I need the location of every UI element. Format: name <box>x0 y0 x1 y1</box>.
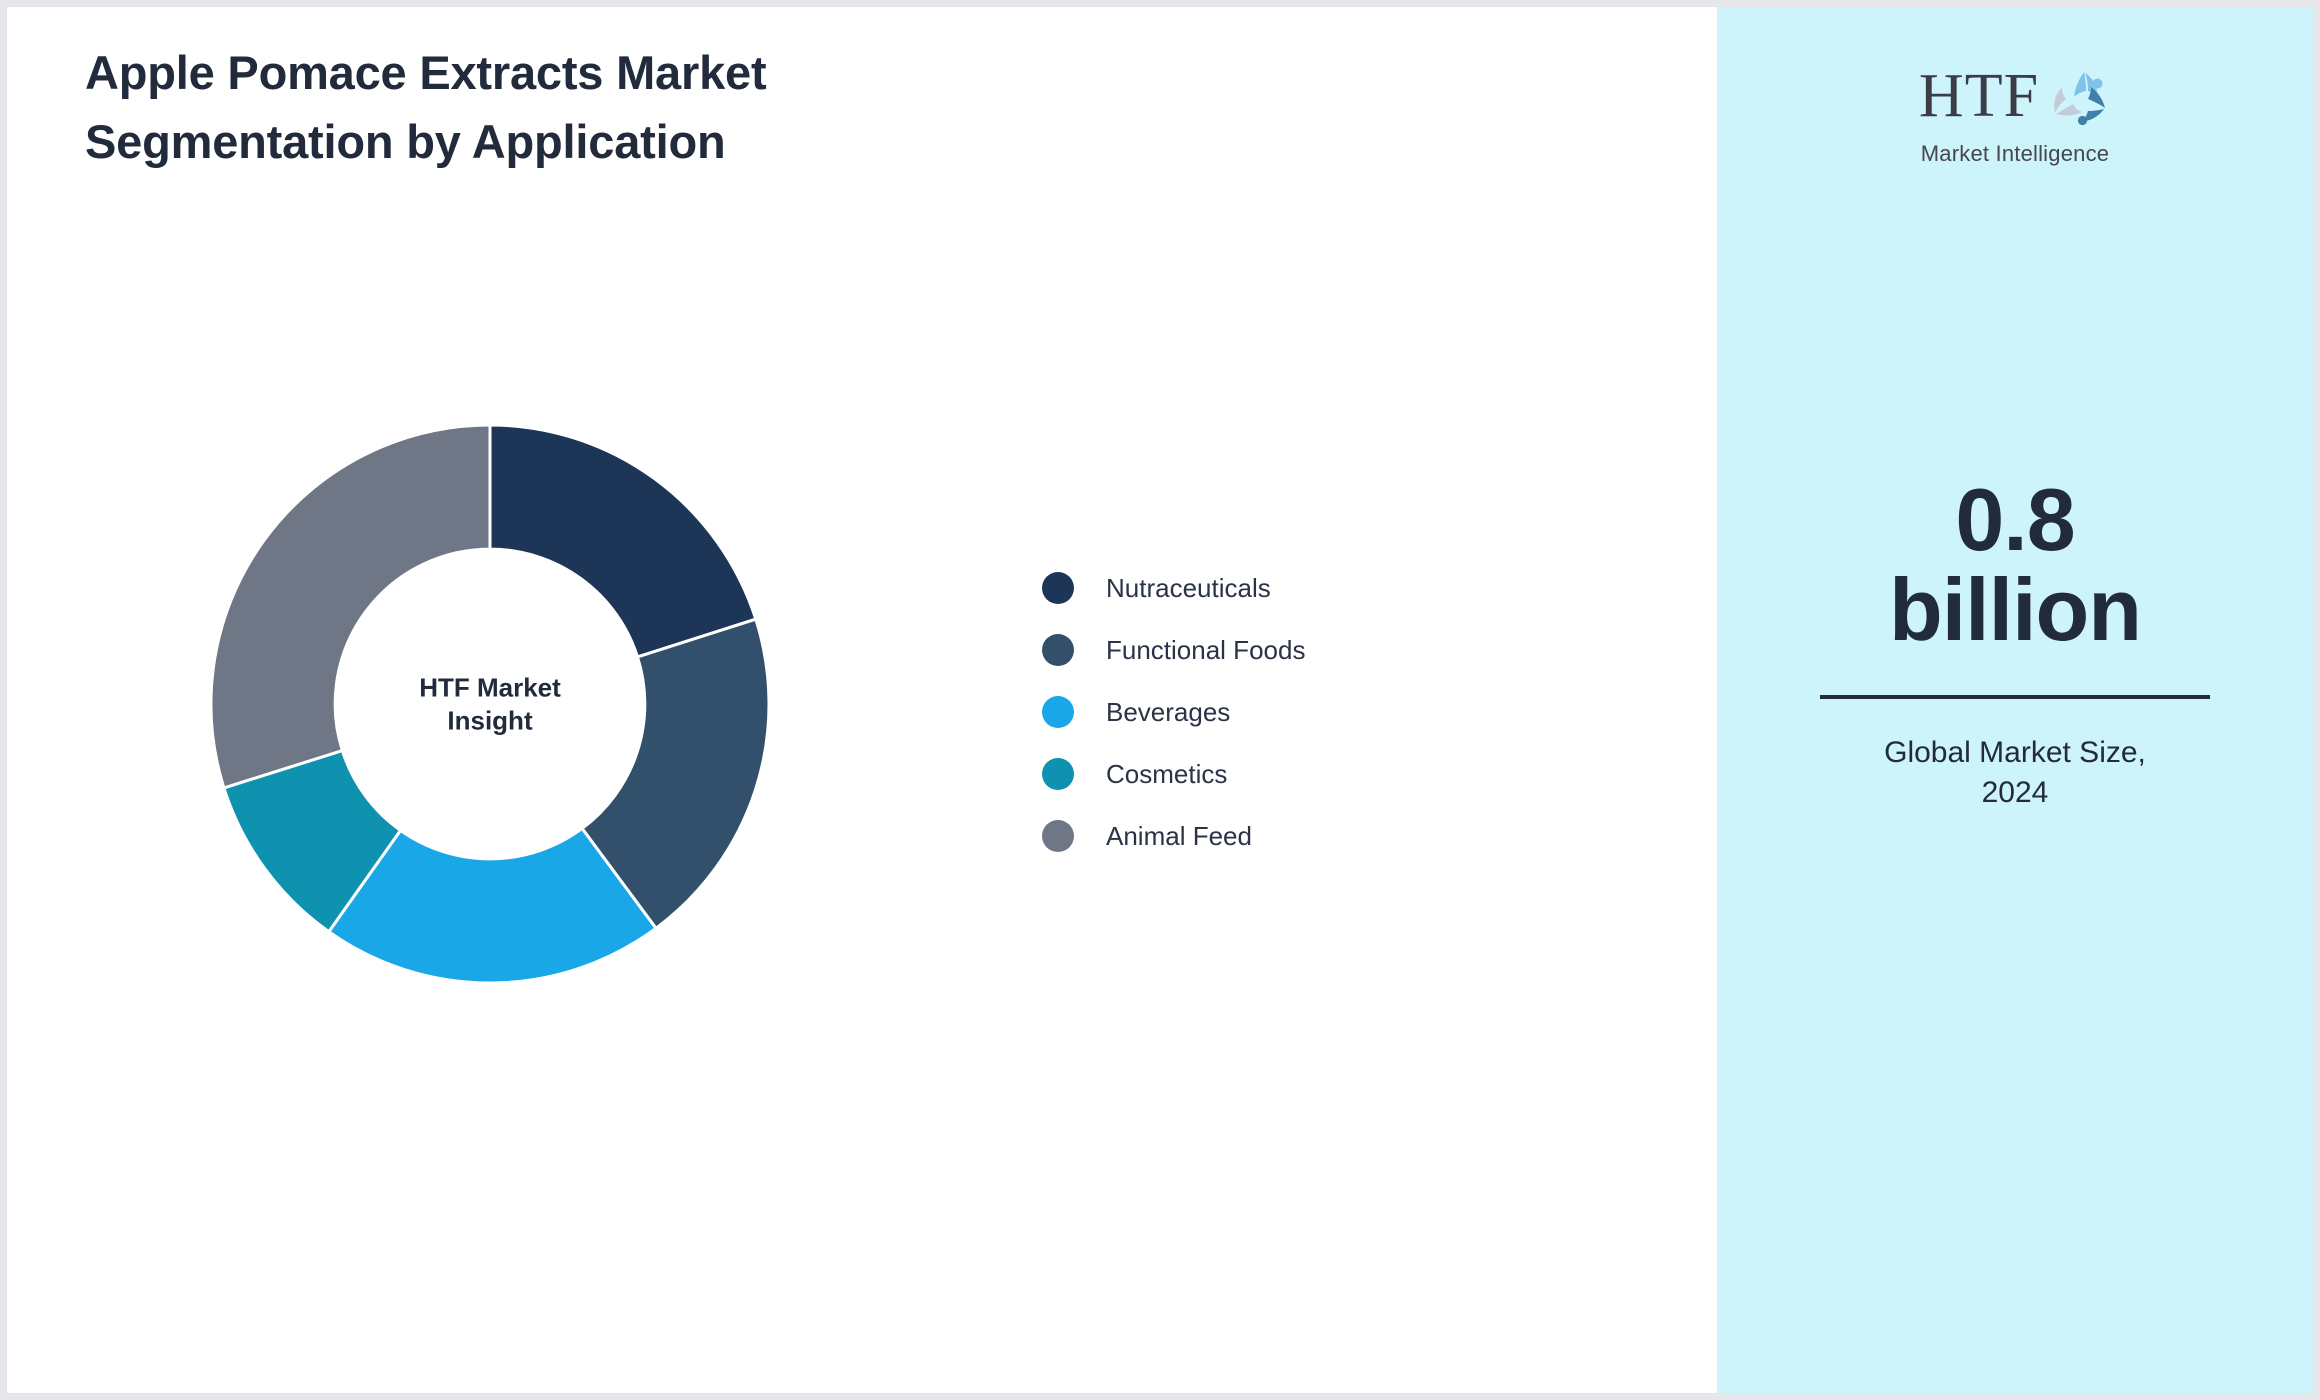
legend-item-label: Cosmetics <box>1106 759 1227 790</box>
stat-divider <box>1820 695 2210 699</box>
legend-item[interactable]: Animal Feed <box>1042 805 1562 867</box>
stat-caption: Global Market Size, 2024 <box>1805 733 2225 814</box>
legend-swatch-icon <box>1042 820 1074 852</box>
legend-item[interactable]: Beverages <box>1042 681 1562 743</box>
logo-swirl-icon <box>2043 67 2111 134</box>
legend-item-label: Functional Foods <box>1106 635 1305 666</box>
legend-item-label: Beverages <box>1106 697 1230 728</box>
donut-slice-nutraceuticals[interactable] <box>490 425 756 657</box>
brand-logo: HTF <box>1890 65 2140 175</box>
infographic-card: Apple Pomace Extracts Market Segmentatio… <box>6 6 2314 1394</box>
stat-value-line1: 0.8 <box>1805 475 2225 565</box>
chart-panel: Apple Pomace Extracts Market Segmentatio… <box>7 7 1717 1393</box>
legend-item-label: Animal Feed <box>1106 821 1252 852</box>
logo-wordmark: HTF <box>1919 65 2039 127</box>
legend-swatch-icon <box>1042 572 1074 604</box>
legend-swatch-icon <box>1042 634 1074 666</box>
donut-slice-animal-feed[interactable] <box>211 425 490 788</box>
chart-legend: NutraceuticalsFunctional FoodsBeveragesC… <box>1042 557 1562 867</box>
legend-swatch-icon <box>1042 696 1074 728</box>
legend-item-label: Nutraceuticals <box>1106 573 1271 604</box>
logo-row: HTF <box>1919 65 2111 139</box>
page-title-line2: Segmentation by Application <box>85 118 1085 165</box>
page-title-line1: Apple Pomace Extracts Market <box>85 46 766 99</box>
stat-caption-line1: Global Market Size, <box>1805 733 2225 774</box>
legend-item[interactable]: Nutraceuticals <box>1042 557 1562 619</box>
donut-chart-svg <box>205 419 775 989</box>
stat-value-line2: billion <box>1805 565 2225 655</box>
legend-swatch-icon <box>1042 758 1074 790</box>
stat-caption-line2: 2024 <box>1805 773 2225 814</box>
page-title: Apple Pomace Extracts Market Segmentatio… <box>85 49 1085 165</box>
logo-tagline: Market Intelligence <box>1921 141 2109 167</box>
legend-item[interactable]: Functional Foods <box>1042 619 1562 681</box>
legend-item[interactable]: Cosmetics <box>1042 743 1562 805</box>
screenshot-root: Apple Pomace Extracts Market Segmentatio… <box>0 0 2320 1400</box>
market-size-stat: 0.8 billion Global Market Size, 2024 <box>1805 475 2225 814</box>
donut-chart: HTF Market Insight <box>205 419 775 989</box>
stat-value: 0.8 billion <box>1805 475 2225 655</box>
donut-slice-group <box>211 425 769 983</box>
summary-panel: HTF <box>1717 7 2313 1393</box>
